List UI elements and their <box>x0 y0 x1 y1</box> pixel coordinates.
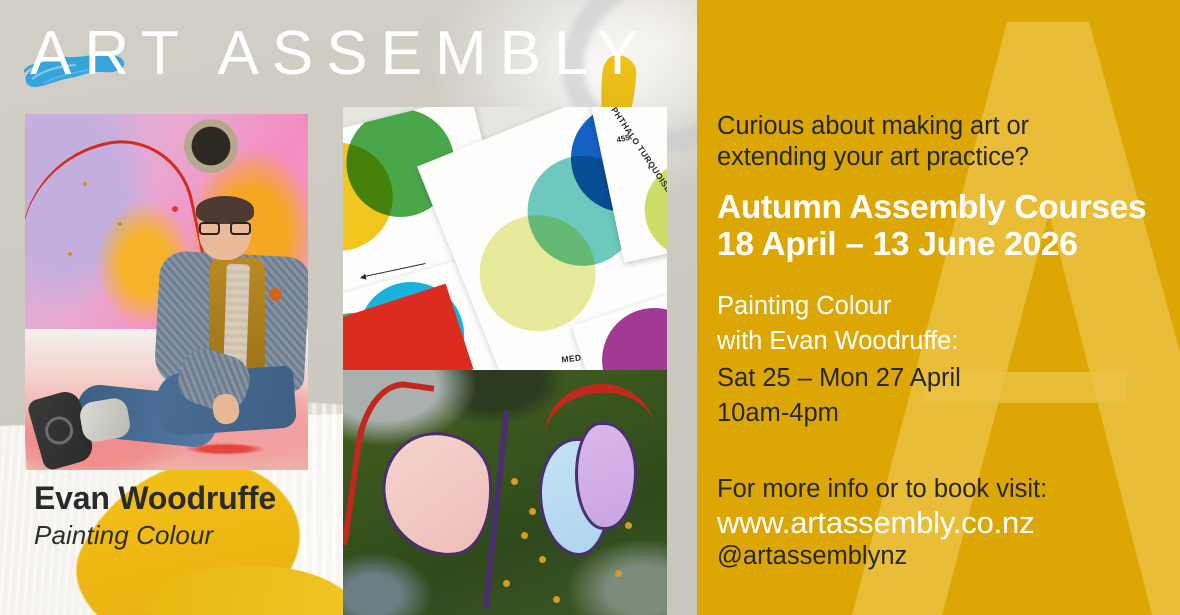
promo-headline-line-2: 18 April – 13 June 2026 <box>717 225 1078 265</box>
info-panel: Curious about making art or extending yo… <box>697 0 1180 615</box>
promo-question-line-1: Curious about making art or <box>717 111 1029 142</box>
colour-swatch-cards-photo: 235 TITANIUM GOLD YELLOW 456 COBALT TEAL… <box>343 107 667 370</box>
course-dates: Sat 25 – Mon 27 April <box>717 362 961 394</box>
poster-root: ART ASSEMBLY 235 T <box>0 0 1180 615</box>
artist-name: Evan Woodruffe <box>34 478 364 518</box>
artist-glasses <box>199 222 251 235</box>
artist-portrait-photo <box>25 114 308 470</box>
course-times: 10am-4pm <box>717 397 839 429</box>
ochre-dot-cluster <box>343 370 667 615</box>
artist-caption: Evan Woodruffe Painting Colour <box>34 478 364 552</box>
artist-lapel-pin <box>269 288 282 301</box>
course-tutor: with Evan Woodruffe: <box>717 325 958 357</box>
artist-figure <box>117 202 307 470</box>
logo[interactable]: ART ASSEMBLY <box>0 0 700 108</box>
artist-course-title: Painting Colour <box>34 518 364 552</box>
booking-prompt: For more info or to book visit: <box>717 473 1047 505</box>
course-title: Painting Colour <box>717 290 891 322</box>
social-handle[interactable]: @artassemblynz <box>717 540 907 572</box>
logo-wordmark: ART ASSEMBLY <box>30 20 651 88</box>
swatch-name: PHTHALO TURQUOISE <box>609 107 667 194</box>
artist-hair <box>196 196 254 224</box>
abstract-painting-photo <box>343 370 667 615</box>
promo-headline-line-1: Autumn Assembly Courses <box>717 188 1146 228</box>
promo-question-line-2: extending your art practice? <box>717 142 1029 173</box>
website-link[interactable]: www.artassembly.co.nz <box>717 503 1034 543</box>
